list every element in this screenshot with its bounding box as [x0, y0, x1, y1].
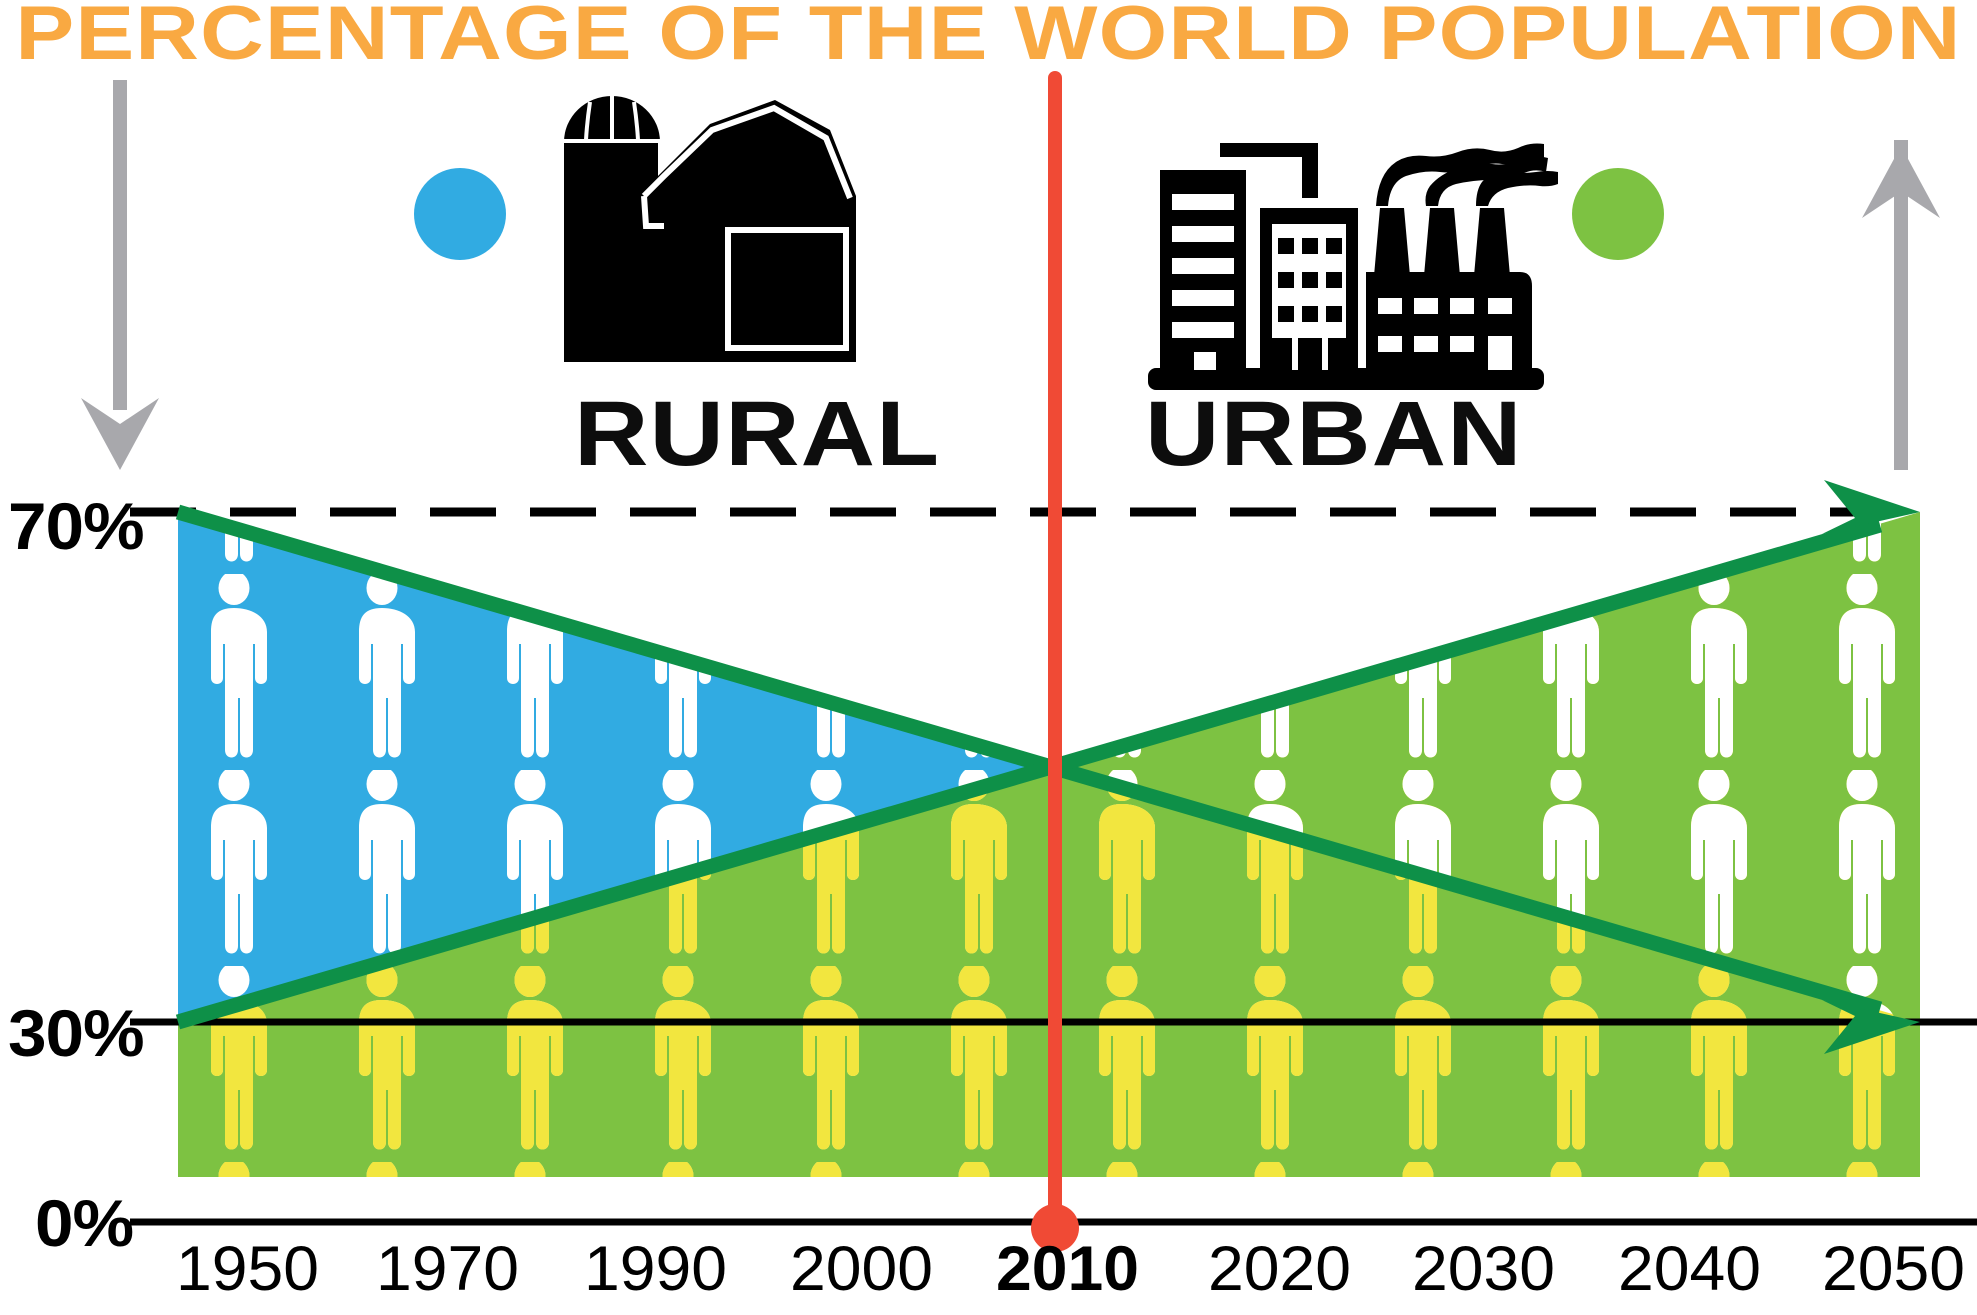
- x-axis-label-2030: 2030: [1412, 1238, 1555, 1301]
- urban-legend-dot: [1572, 168, 1664, 260]
- rural-legend-dot: [414, 168, 506, 260]
- urban-people-pictograms: [178, 440, 1920, 1200]
- year-marker-2010: [1031, 78, 1079, 1252]
- urban-area: [178, 512, 1920, 1177]
- urban-label: URBAN: [1145, 388, 1523, 480]
- y-axis-label-70: 70%: [8, 493, 144, 559]
- rural-label: RURAL: [574, 388, 940, 480]
- x-axis-label-2000: 2000: [790, 1238, 933, 1301]
- urban-upper-people-pictograms: [178, 440, 1920, 1200]
- infographic-canvas: PERCENTAGE OF THE WORLD POPULATION: [0, 0, 1977, 1315]
- urban-trend-line: [178, 480, 1920, 1022]
- x-axis-label-1990: 1990: [584, 1238, 727, 1301]
- x-axis-label-1970: 1970: [376, 1238, 519, 1301]
- y-axis-label-0: 0%: [35, 1190, 133, 1256]
- down-arrow-icon: [75, 80, 165, 470]
- x-axis-label-2040: 2040: [1618, 1238, 1761, 1301]
- x-axis-label-2020: 2020: [1208, 1238, 1351, 1301]
- x-axis-label-2050: 2050: [1822, 1238, 1965, 1301]
- rural-people-pictograms: [178, 440, 1920, 1200]
- barn-icon: [560, 78, 860, 378]
- x-axis-label-2010: 2010: [996, 1238, 1139, 1301]
- rural-trend-line: [178, 512, 1920, 1054]
- factory-city-icon: [1140, 110, 1560, 400]
- up-arrow-icon: [1856, 80, 1946, 470]
- rural-area: [178, 512, 1920, 1177]
- y-axis-label-30: 30%: [8, 1000, 144, 1066]
- x-axis-label-1950: 1950: [176, 1238, 319, 1301]
- population-crossover-chart: [0, 0, 1977, 1315]
- page-title: PERCENTAGE OF THE WORLD POPULATION: [0, 0, 1977, 72]
